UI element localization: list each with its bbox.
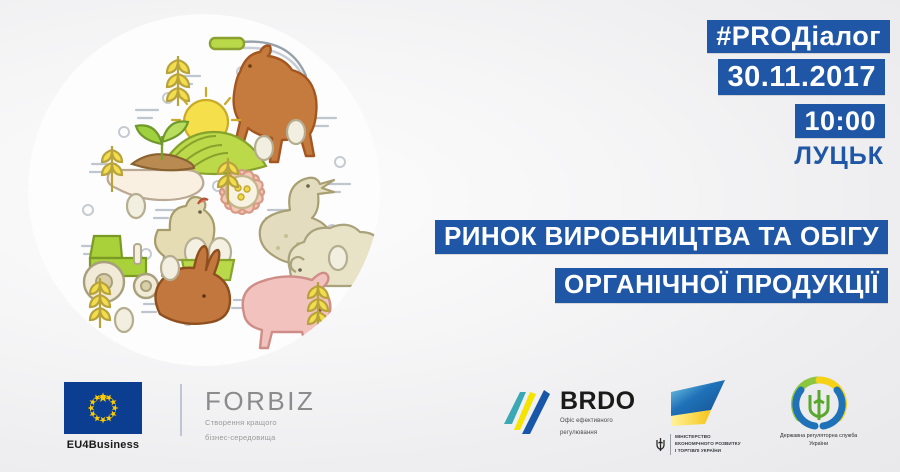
event-city-label: ЛУЦЬК — [794, 142, 884, 171]
regulatory-service-line-1: Державна регуляторна служба — [780, 432, 857, 440]
brdo-text-block: BRDO Офіс ефективного регулювання — [560, 389, 636, 438]
ministry-logo: МІНІСТЕРСТВО ЕКОНОМІЧНОГО РОЗВИТКУ І ТОР… — [655, 376, 741, 455]
eu4business-logo: EU4Business — [64, 382, 142, 451]
hashtag-badge: #PROДіалог — [707, 20, 890, 53]
ministry-text-block: МІНІСТЕРСТВО ЕКОНОМІЧНОГО РОЗВИТКУ І ТОР… — [655, 434, 741, 455]
forbiz-logo: FORBIZ Створення кращого бізнес-середови… — [205, 388, 315, 444]
eu-flag-icon — [64, 382, 142, 434]
brdo-lightning-icon — [500, 384, 554, 442]
ministry-flag-icon — [661, 376, 735, 432]
brdo-name: BRDO — [560, 389, 636, 414]
eu4business-label: EU4Business — [67, 439, 140, 451]
brdo-logo: BRDO Офіс ефективного регулювання — [500, 384, 636, 442]
ministry-line-3: І ТОРГІВЛІ УКРАЇНИ — [675, 448, 741, 455]
event-banner: #PROДіалог 30.11.2017 10:00 ЛУЦЬК РИНОК … — [0, 0, 900, 472]
ministry-line-1: МІНІСТЕРСТВО — [675, 434, 741, 441]
forbiz-tagline-line-2: бізнес-середовища — [205, 433, 276, 444]
forbiz-name: FORBIZ — [205, 388, 315, 414]
brdo-subtitle-line-2: регулювання — [560, 429, 636, 438]
forbiz-tagline-line-1: Створення кращого — [205, 418, 277, 429]
regulatory-service-line-2: України — [809, 440, 828, 448]
event-title-line-2: ОРГАНІЧНОЇ ПРОДУКЦІЇ — [555, 268, 888, 302]
tryzub-icon — [655, 437, 666, 452]
event-title: РИНОК ВИРОБНИЦТВА ТА ОБІГУ ОРГАНІЧНОЇ ПР… — [435, 220, 888, 303]
event-date-badge: 30.11.2017 — [718, 59, 885, 95]
event-title-line-1: РИНОК ВИРОБНИЦТВА ТА ОБІГУ — [435, 220, 888, 254]
wheat-ear-icon — [167, 56, 189, 106]
logo-divider — [180, 384, 182, 436]
brdo-subtitle-line-1: Офіс ефективного — [560, 417, 636, 426]
organic-agriculture-circle-illustration — [28, 14, 380, 366]
footer-logos: EU4Business FORBIZ Створення кращого біз… — [0, 370, 900, 466]
ministry-name-lines: МІНІСТЕРСТВО ЕКОНОМІЧНОГО РОЗВИТКУ І ТОР… — [670, 434, 741, 455]
regulatory-service-logo: Державна регуляторна служба України — [780, 376, 857, 448]
tryzub-circle-icon — [789, 376, 849, 432]
ministry-line-2: ЕКОНОМІЧНОГО РОЗВИТКУ — [675, 441, 741, 448]
event-time-badge: 10:00 — [795, 104, 885, 138]
